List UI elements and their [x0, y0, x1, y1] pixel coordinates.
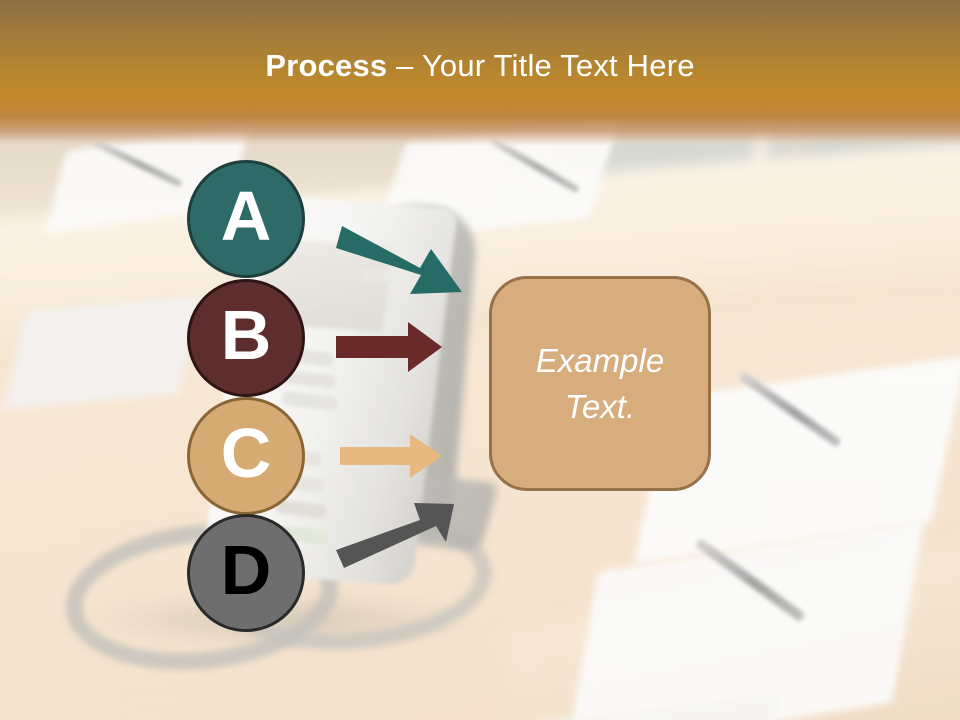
step-circle-b-label: B: [221, 300, 272, 370]
arrow-step-a: [332, 218, 464, 300]
step-circle-a[interactable]: A: [187, 160, 305, 278]
step-circle-a-label: A: [221, 181, 272, 251]
step-circle-c[interactable]: C: [187, 397, 305, 515]
example-text-box[interactable]: Example Text.: [489, 276, 711, 491]
slide-canvas: Process – Your Title Text Here A B C D E…: [0, 0, 960, 720]
title-banner: Process – Your Title Text Here: [0, 0, 960, 146]
example-text-line-2: Text.: [565, 384, 635, 430]
arrow-step-b: [336, 322, 444, 372]
step-circle-d-label: D: [221, 535, 272, 605]
arrow-step-c: [340, 434, 444, 478]
page-title-rest: – Your Title Text Here: [387, 48, 694, 83]
background-photo: [0, 120, 960, 720]
page-title-bold: Process: [265, 48, 387, 83]
arrow-step-d: [334, 492, 460, 570]
page-title: Process – Your Title Text Here: [0, 47, 960, 85]
step-circle-d[interactable]: D: [187, 514, 305, 632]
step-circle-c-label: C: [221, 418, 272, 488]
paper-sheet: [4, 296, 201, 409]
example-text-line-1: Example: [536, 338, 664, 384]
step-circle-b[interactable]: B: [187, 279, 305, 397]
